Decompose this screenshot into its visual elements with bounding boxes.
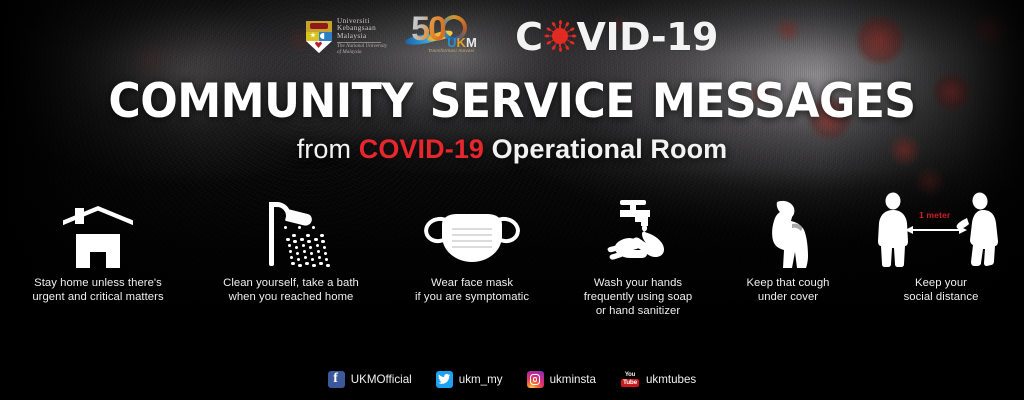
title-word-community: COMMUNITY xyxy=(108,74,412,129)
distance-arrow-icon xyxy=(905,226,967,234)
social-instagram[interactable]: ukminsta xyxy=(527,371,596,388)
coronavirus-icon xyxy=(545,21,575,51)
youtube-handle[interactable]: ukmtubes xyxy=(646,373,696,386)
instagram-icon[interactable] xyxy=(527,371,544,388)
cough-under-cover-icon xyxy=(755,198,821,268)
instagram-handle[interactable]: ukminsta xyxy=(550,373,596,386)
anniversary-brand-k: K xyxy=(457,35,466,50)
ukm-50th-anniversary-logo: 50 UKM Transformasi Inovasi xyxy=(405,13,497,61)
youtube-icon[interactable]: You Tube xyxy=(620,371,640,388)
subtitle-suffix: Operational Room xyxy=(492,134,728,164)
tip-cough-cover-line1: Keep that cough xyxy=(718,277,858,291)
tip-wash-hands-line3: or hand sanitizer xyxy=(558,305,718,319)
anniversary-brand-m: M xyxy=(466,35,477,50)
shower-icon xyxy=(253,200,329,268)
prevention-tips-row: Stay home unless there's urgent and crit… xyxy=(0,196,1024,326)
ukm-logo-tagline2: of Malaysia xyxy=(337,50,387,56)
facebook-icon[interactable] xyxy=(328,371,345,388)
tip-wear-face-mask-line1: Wear face mask xyxy=(386,277,558,291)
tip-wash-hands-line1: Wash your hands xyxy=(558,277,718,291)
facebook-handle[interactable]: UKMOfficial xyxy=(351,373,412,386)
page-title: COMMUNITYSERVICEMESSAGES xyxy=(31,78,994,126)
social-media-footer: UKMOfficial ukm_my ukminsta You Tube ukm… xyxy=(0,371,1024,388)
anniversary-brand: UKM xyxy=(447,35,477,50)
tip-wash-hands-line2: frequently using soap xyxy=(558,291,718,305)
hand-washing-faucet-icon xyxy=(600,198,676,268)
youtube-wordmark-top: You xyxy=(625,372,635,378)
covid-community-service-banner: Universiti Kebangsaan Malaysia The Natio… xyxy=(0,0,1024,400)
ukm-logo-line3: Malaysia xyxy=(337,33,387,40)
anniversary-number: 50 xyxy=(411,10,445,49)
tip-wear-face-mask-line2: if you are symptomatic xyxy=(386,291,558,305)
social-distance-icon: 1 meter xyxy=(867,192,1015,268)
face-mask-icon xyxy=(424,210,520,268)
tip-stay-home-line1: Stay home unless there's xyxy=(0,277,196,291)
tip-stay-home: Stay home unless there's urgent and crit… xyxy=(0,196,196,305)
distance-label: 1 meter xyxy=(919,210,950,220)
headline-block: COMMUNITYSERVICEMESSAGES from COVID-19 O… xyxy=(0,78,1024,165)
twitter-handle[interactable]: ukm_my xyxy=(459,373,503,386)
subtitle-prefix: from xyxy=(297,134,351,164)
tip-stay-home-line2: urgent and critical matters xyxy=(0,291,196,305)
logo-row: Universiti Kebangsaan Malaysia The Natio… xyxy=(0,8,1024,66)
social-youtube[interactable]: You Tube ukmtubes xyxy=(620,371,696,388)
tip-cough-cover-line2: under cover xyxy=(718,291,858,305)
social-facebook[interactable]: UKMOfficial xyxy=(328,371,412,388)
ukm-university-logo: Universiti Kebangsaan Malaysia The Natio… xyxy=(306,18,387,56)
tip-wear-face-mask: Wear face mask if you are symptomatic xyxy=(386,196,558,305)
tip-clean-yourself-line2: when you reached home xyxy=(196,291,386,305)
covid-logo-suffix: VID-19 xyxy=(577,15,718,59)
title-word-messages: MESSAGES xyxy=(652,74,916,129)
tip-cough-cover: Keep that cough under cover xyxy=(718,196,858,305)
house-icon xyxy=(63,206,133,268)
tip-social-distance-line1: Keep your xyxy=(858,277,1024,291)
covid-19-logo: CVID-19 xyxy=(515,14,718,60)
anniversary-brand-u: U xyxy=(447,35,456,50)
page-subtitle: from COVID-19 Operational Room xyxy=(0,134,1024,165)
tip-clean-yourself-line1: Clean yourself, take a bath xyxy=(196,277,386,291)
tip-clean-yourself: Clean yourself, take a bath when you rea… xyxy=(196,196,386,305)
ukm-crest-icon xyxy=(306,21,332,53)
subtitle-covid-highlight: COVID-19 xyxy=(359,134,484,164)
twitter-icon[interactable] xyxy=(436,371,453,388)
tip-social-distance: 1 meter Keep your social distance xyxy=(858,196,1024,305)
tip-wash-hands: Wash your hands frequently using soap or… xyxy=(558,196,718,318)
title-word-service: SERVICE xyxy=(430,74,635,129)
covid-logo-prefix: C xyxy=(515,15,542,59)
youtube-wordmark-bottom: Tube xyxy=(621,379,640,387)
social-twitter[interactable]: ukm_my xyxy=(436,371,503,388)
tip-social-distance-line2: social distance xyxy=(858,291,1024,305)
